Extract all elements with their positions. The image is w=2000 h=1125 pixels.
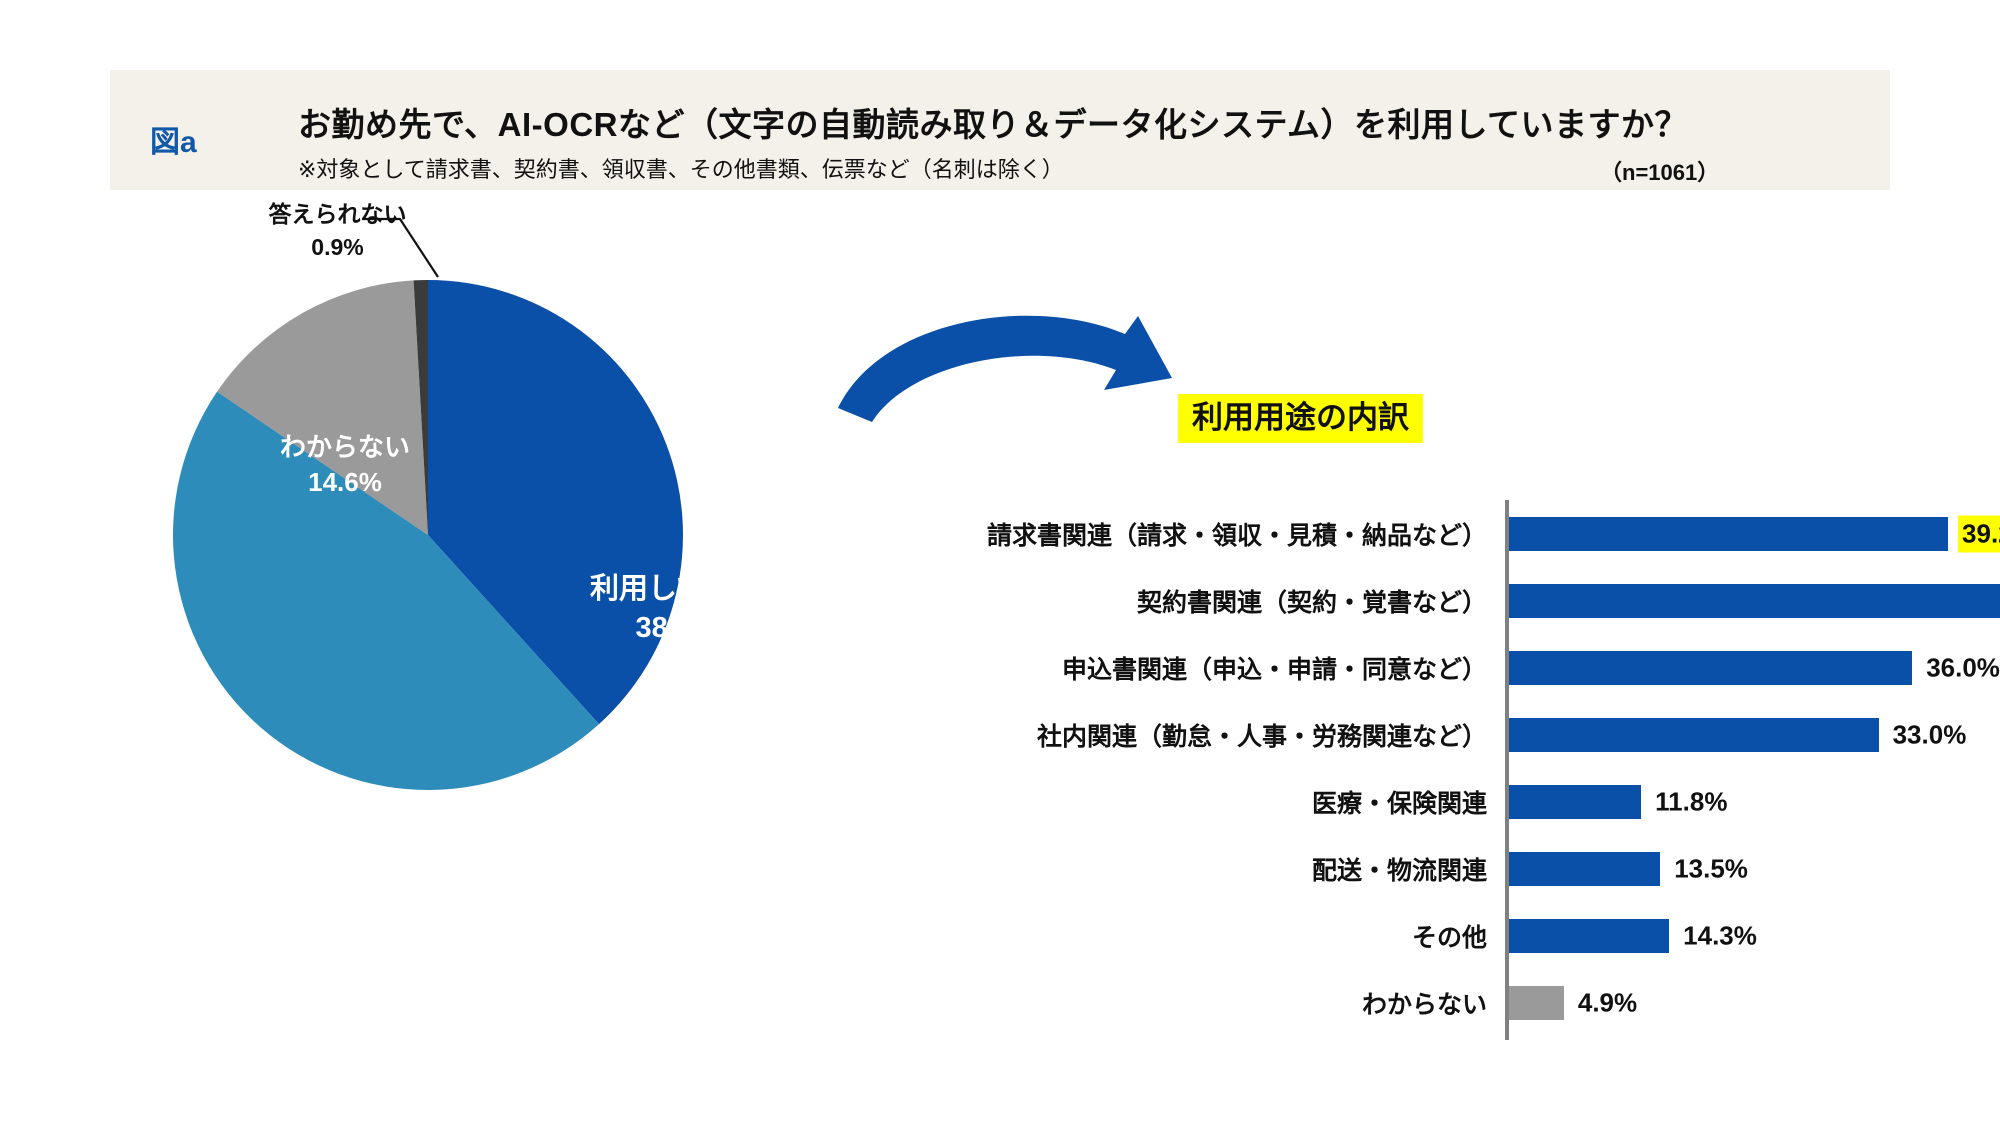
pie-label-using: 利用している 38.3%: [590, 570, 763, 648]
pie-label-not-using: 利用していない 46.2%: [195, 795, 397, 873]
breakdown-section-title: 利用用途の内訳: [1178, 394, 1423, 443]
pie-label-not-using-text: 利用していない: [195, 798, 397, 830]
sample-size-label: （n=1061）: [1600, 155, 1719, 187]
bar-category-label: 申込書関連（申込・申請・同意など）: [1062, 650, 1487, 686]
bar-row: わからない4.9%: [900, 977, 1900, 1028]
bar-category-label: 配送・物流関連: [1312, 851, 1487, 887]
pie-label-using-value: 38.3%: [635, 612, 717, 644]
bar-category-label: 社内関連（勤怠・人事・労務関連など）: [1037, 717, 1487, 753]
bar-segment: [1509, 986, 1564, 1020]
pie-label-noanswer: 答えられない 0.9%: [250, 198, 425, 265]
pie-label-using-text: 利用している: [590, 573, 763, 605]
pie-label-noanswer-value: 0.9%: [311, 234, 363, 260]
bar-category-label: 請求書関連（請求・領収・見積・納品など）: [987, 516, 1487, 552]
bar-category-label: 医療・保険関連: [1312, 784, 1487, 820]
pie-label-unknown-value: 14.6%: [308, 467, 382, 497]
page-title: お勤め先で、AI-OCRなど（文字の自動読み取り＆データ化システム）を利用してい…: [298, 98, 1688, 146]
bar-category-label: 契約書関連（契約・覚書など）: [1137, 583, 1487, 619]
pie-label-noanswer-text: 答えられない: [269, 201, 407, 227]
bar-value-label: 13.5%: [1670, 850, 1752, 887]
bar-segment: [1509, 517, 1948, 551]
bar-segment: [1509, 919, 1669, 953]
bar-row: 配送・物流関連13.5%: [900, 843, 1900, 894]
bar-value-label: 39.2%: [1958, 515, 2000, 552]
pie-label-not-using-value: 46.2%: [255, 837, 337, 869]
bar-row: 契約書関連（契約・覚書など）51.0%: [900, 575, 1900, 626]
bar-category-label: わからない: [1362, 985, 1487, 1021]
pie-label-unknown-text: わからない: [280, 432, 410, 462]
bar-category-label: その他: [1412, 918, 1487, 954]
bar-segment: [1509, 785, 1641, 819]
bar-value-label: 4.9%: [1574, 984, 1641, 1021]
curved-arrow-icon: [820, 280, 1200, 450]
bar-row: その他14.3%: [900, 910, 1900, 961]
bar-segment: [1509, 584, 2000, 618]
bar-row: 申込書関連（申込・申請・同意など）36.0%: [900, 642, 1900, 693]
bar-row: 医療・保険関連11.8%: [900, 776, 1900, 827]
figure-badge: 図a: [150, 128, 197, 158]
bar-segment: [1509, 651, 1912, 685]
bar-row: 社内関連（勤怠・人事・労務関連など）33.0%: [900, 709, 1900, 760]
bar-chart: 請求書関連（請求・領収・見積・納品など）39.2%契約書関連（契約・覚書など）5…: [900, 490, 1900, 1050]
bar-value-label: 14.3%: [1679, 917, 1761, 954]
bar-segment: [1509, 852, 1660, 886]
bar-segment: [1509, 718, 1879, 752]
page-subtitle: ※対象として請求書、契約書、領収書、その他書類、伝票など（名刺は除く）: [298, 152, 1064, 184]
pie-slices: [173, 280, 683, 790]
bar-value-label: 33.0%: [1889, 716, 1971, 753]
bar-row: 請求書関連（請求・領収・見積・納品など）39.2%: [900, 508, 1900, 559]
pie-label-unknown: わからない 14.6%: [280, 430, 410, 500]
bar-value-label: 36.0%: [1922, 649, 2000, 686]
bar-value-label: 11.8%: [1651, 783, 1731, 820]
